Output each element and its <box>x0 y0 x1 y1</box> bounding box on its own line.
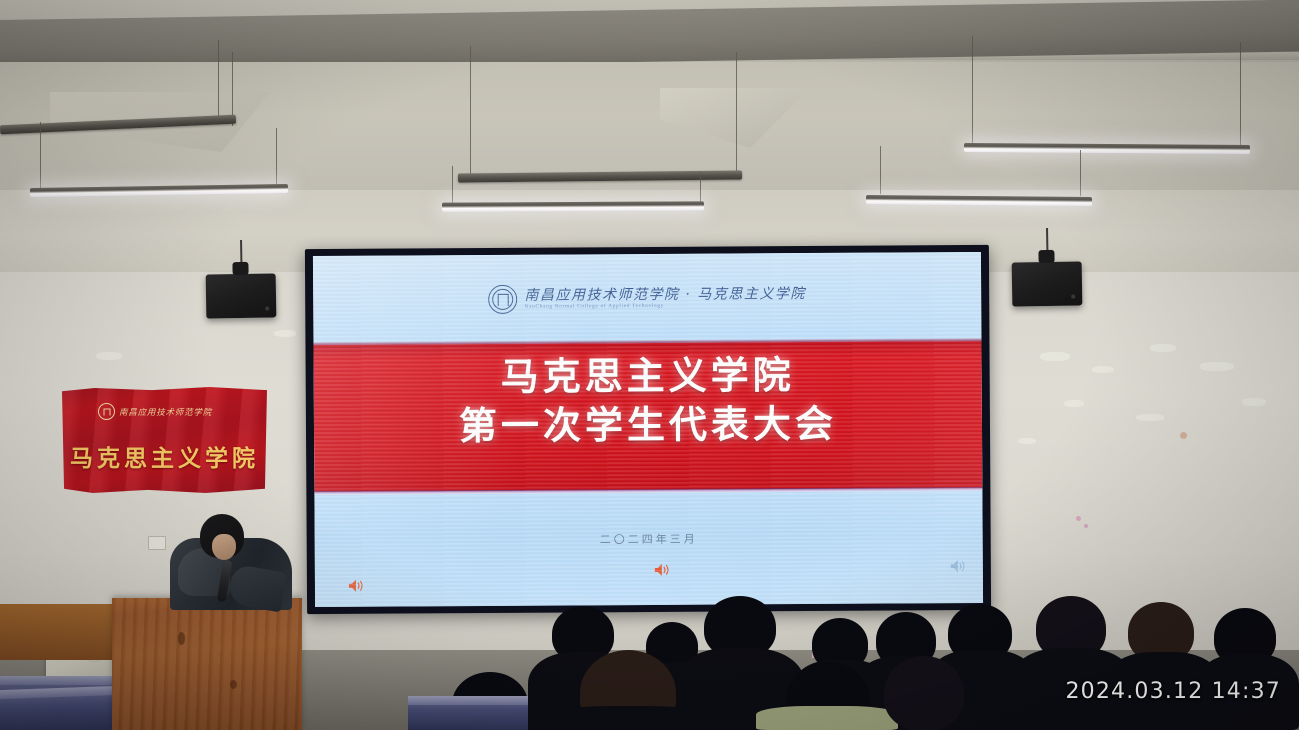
lamp-wire <box>1240 42 1241 148</box>
wall-mark <box>1136 414 1164 421</box>
podium-knot <box>178 632 185 645</box>
slide-title-line-2: 第一次学生代表大会 <box>314 399 982 452</box>
audience-body-front <box>756 706 898 730</box>
speaker-icon-left <box>347 578 365 599</box>
speaker-icon-center <box>653 562 671 583</box>
slide-logo-text: 南昌应用技术师范学院 · 马克思主义学院 NanChang Normal Col… <box>524 287 805 310</box>
slide-logo-chinese: 南昌应用技术师范学院 · 马克思主义学院 <box>524 287 805 303</box>
university-seal-icon <box>98 403 115 420</box>
presenter-face <box>212 534 236 560</box>
wall-mark <box>1092 366 1114 373</box>
classroom-photo-scene: 南昌应用技术师范学院 马克思主义学院 南昌应用技术师范学院 · 马克思主义学院 … <box>0 0 1299 730</box>
wall-mark <box>1242 398 1266 406</box>
lamp-wire <box>736 52 737 174</box>
wall-outlet <box>148 536 166 550</box>
slide-logo-row: 南昌应用技术师范学院 · 马克思主义学院 NanChang Normal Col… <box>313 282 981 315</box>
wall-mark <box>1076 516 1081 521</box>
banner-header-text: 南昌应用技术师范学院 <box>119 406 212 418</box>
wall-mark <box>1064 400 1084 407</box>
podium-knot <box>230 680 237 689</box>
wall-recess-right <box>660 88 810 148</box>
audience-body-front <box>546 706 712 730</box>
student-desk-center <box>408 696 528 730</box>
wall-banner: 南昌应用技术师范学院 马克思主义学院 <box>62 387 267 493</box>
speaker-icon-right <box>949 558 967 579</box>
university-seal-icon <box>488 285 517 314</box>
audience-head-front <box>884 656 964 730</box>
speaker-mount <box>1038 250 1054 263</box>
lamp-wire <box>40 122 41 188</box>
wall-mark <box>1180 432 1187 439</box>
speaker-led <box>265 307 269 311</box>
wooden-podium <box>112 598 302 730</box>
wall-mark <box>96 352 122 360</box>
lamp-wire <box>1080 150 1081 196</box>
lamp-5 <box>442 201 704 211</box>
camera-timestamp: 2024.03.12 14:37 <box>1065 679 1281 704</box>
presenter-with-microphone <box>170 508 292 608</box>
speaker-led <box>1071 295 1075 299</box>
wall-mark <box>274 330 296 337</box>
projection-screen: 南昌应用技术师范学院 · 马克思主义学院 NanChang Normal Col… <box>305 245 991 614</box>
podium-grain <box>112 598 302 730</box>
wall-mark <box>1200 362 1234 371</box>
wall-mark <box>1040 352 1070 361</box>
speaker-mount <box>232 262 248 275</box>
slide-logo-english: NanChang Normal College of Applied Techn… <box>525 303 806 310</box>
desk-top <box>408 696 528 705</box>
slide-title: 马克思主义学院 第一次学生代表大会 <box>314 350 983 451</box>
lamp-wire <box>880 146 881 194</box>
lamp-wire <box>470 46 471 174</box>
wall-speaker-right <box>1012 261 1083 306</box>
lamp-wire <box>972 36 973 148</box>
projection-screen-surface: 南昌应用技术师范学院 · 马克思主义学院 NanChang Normal Col… <box>313 252 983 607</box>
banner-main-text: 马克思主义学院 <box>62 439 267 473</box>
desk-wood-panel <box>0 604 112 660</box>
lamp-wire <box>218 40 219 124</box>
slide-title-line-1: 马克思主义学院 <box>314 350 982 403</box>
lamp-wire <box>276 128 277 190</box>
student-desk-left <box>0 686 121 730</box>
banner-logo: 南昌应用技术师范学院 <box>98 403 212 420</box>
wall-mark <box>1084 524 1088 528</box>
wall-mark <box>1150 344 1176 352</box>
wall-mark <box>1018 438 1036 444</box>
wall-speaker-left <box>206 273 277 318</box>
